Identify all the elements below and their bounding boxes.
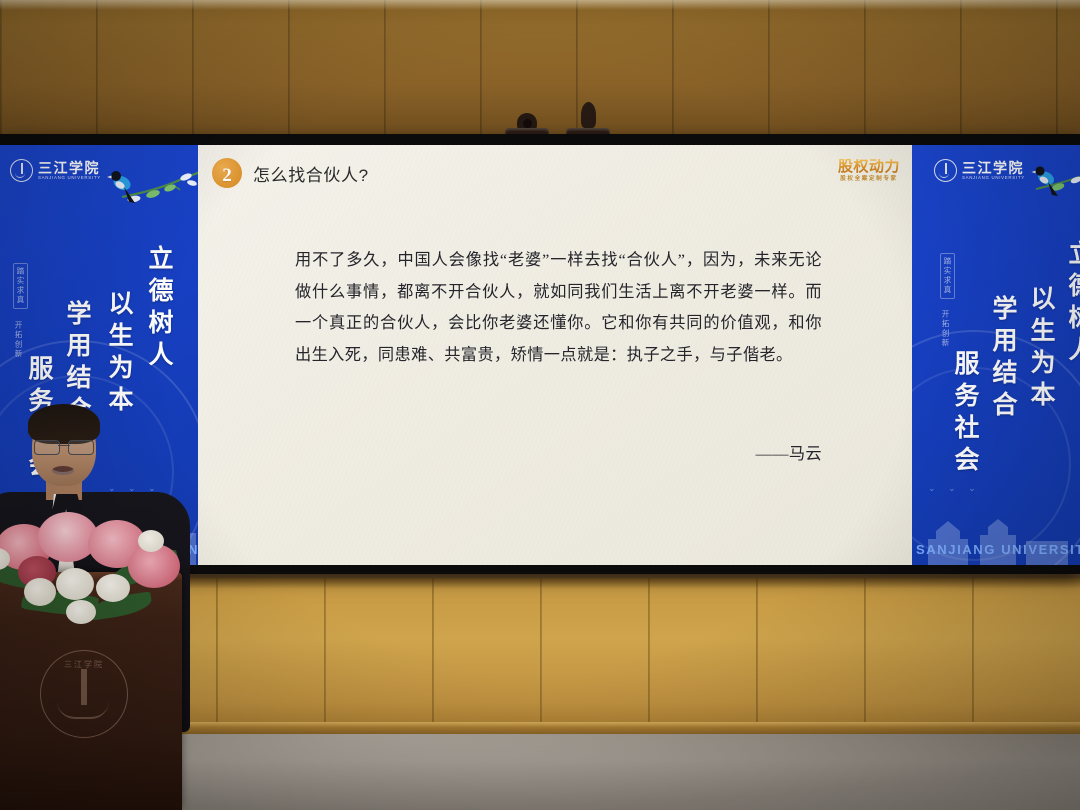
- university-name-en: SANJIANG UNIVERSITY: [38, 176, 101, 181]
- university-crest-icon: [934, 159, 957, 182]
- banner-small-motto-2: 开拓创新: [940, 310, 951, 348]
- brand-logo: 股权动力 股权全案定制专家: [838, 159, 900, 182]
- banner-motto-3: 学用结合: [984, 295, 1020, 423]
- white-flower: [56, 568, 94, 600]
- university-logo-right: 三江学院 SANJIANG UNIVERSITY: [934, 159, 1025, 182]
- white-flower: [24, 578, 56, 606]
- floral-arrangement: [0, 500, 208, 632]
- university-logo-left: 三江学院 SANJIANG UNIVERSITY: [10, 159, 101, 182]
- banner-small-motto-1: 踏实求真: [13, 263, 28, 309]
- slide-header: 2 怎么找合伙人?: [212, 158, 900, 188]
- white-flower: [96, 574, 130, 602]
- university-name-cn: 三江学院: [38, 161, 101, 176]
- camera-head: [581, 102, 596, 128]
- university-name-en: SANJIANG UNIVERSITY: [962, 176, 1025, 181]
- banner-motto-2: 以生为本: [1022, 285, 1058, 413]
- university-crest-icon: [10, 159, 33, 182]
- banner-motto-4: 服务社会: [946, 350, 982, 478]
- brand-name: 股权动力: [838, 159, 900, 174]
- university-name-cn: 三江学院: [962, 161, 1025, 176]
- glasses-lens-left: [34, 440, 60, 455]
- ptz-camera-right-icon: [566, 102, 610, 138]
- white-flower: [66, 600, 96, 624]
- camera-lens: [523, 119, 532, 128]
- lecture-hall-photo: 三江学院 SANJIANG UNIVERSITY: [0, 0, 1080, 810]
- banner-motto-1: 立德树人: [1060, 240, 1080, 368]
- banner-motto-1: 立德树人: [140, 245, 176, 373]
- brand-tagline: 股权全案定制专家: [838, 177, 900, 183]
- slide-quote-attribution: ——马云: [295, 440, 822, 464]
- banner-right: 三江学院 SANJIANG UNIVERSITY 踏实求真 开拓创新 立德树人: [912, 145, 1080, 565]
- presentation-slide: 2 怎么找合伙人? 股权动力 股权全案定制专家 用不了多久，中国人会像找“老婆”…: [198, 145, 912, 565]
- speaker-hair: [28, 404, 100, 444]
- magpie-branch-illustration: [104, 163, 198, 225]
- podium-university-crest-icon: 三江学院: [40, 650, 128, 738]
- banner-motto-2: 以生为本: [100, 290, 136, 418]
- glasses-lens-right: [68, 440, 94, 455]
- banner-bottom-text: SANJIANG UNIVERSITY: [916, 542, 1080, 557]
- glasses-icon: [34, 440, 94, 453]
- speaker-mouth: [52, 466, 74, 475]
- seagull-silhouettes: ⌄ ⌄ ⌄: [928, 483, 981, 494]
- banner-small-motto-2: 开拓创新: [13, 321, 24, 359]
- banner-small-motto-1: 踏实求真: [940, 253, 955, 299]
- slide-number-badge: 2: [212, 158, 242, 188]
- white-flower: [138, 530, 164, 552]
- slide-title: 怎么找合伙人?: [253, 161, 369, 186]
- podium-crest-text: 三江学院: [41, 659, 127, 670]
- slide-quote-text: 用不了多久，中国人会像找“老婆”一样去找“合伙人”，因为，未来无论做什么事情，都…: [295, 245, 822, 371]
- magpie-branch-illustration: [1030, 161, 1080, 217]
